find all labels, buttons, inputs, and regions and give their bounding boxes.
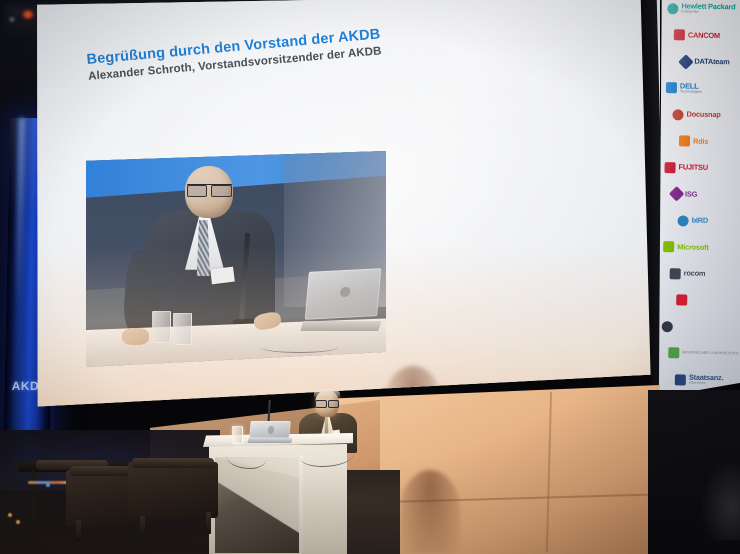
projection-screen: Begrüßung durch den Vorstand der AKDB Al… <box>34 0 660 426</box>
apple-logo-icon <box>267 426 274 434</box>
dark-right-wall-glow <box>700 460 740 540</box>
wall-head-shadow <box>400 470 460 554</box>
slide-photo-glasses-icon <box>187 184 232 195</box>
water-glass <box>232 426 243 444</box>
chair-leg-2 <box>140 516 145 538</box>
led-dot-2 <box>16 520 20 524</box>
sponsor-banner: Hewlett PackardEnterpriseCANCOMDATAteamD… <box>656 0 740 397</box>
stage-armchair-2 <box>128 462 218 518</box>
led-dot-1 <box>8 513 12 517</box>
laptop-base <box>247 438 292 443</box>
ceiling-light-cool <box>9 17 15 22</box>
presenter-hair <box>314 389 340 398</box>
ceiling-light-warm <box>22 10 34 19</box>
chair-leg-1 <box>76 520 81 542</box>
laptop-lid <box>249 421 290 438</box>
lectern-diagonal-panel <box>215 457 301 553</box>
lectern-edge <box>299 455 303 554</box>
stage-table-leg <box>32 470 35 522</box>
presenter-glasses-icon <box>315 400 339 406</box>
banner-sheen <box>656 0 740 397</box>
chair-leg-3 <box>206 512 211 534</box>
chair-backrest-2 <box>132 458 214 468</box>
laptop <box>248 421 292 443</box>
led-dot-3 <box>46 483 50 487</box>
conference-stage-photo: AKDB Begrüßung durch den Vorstand der AK… <box>0 0 740 554</box>
slide-photo-headset-mic-icon <box>179 196 195 219</box>
